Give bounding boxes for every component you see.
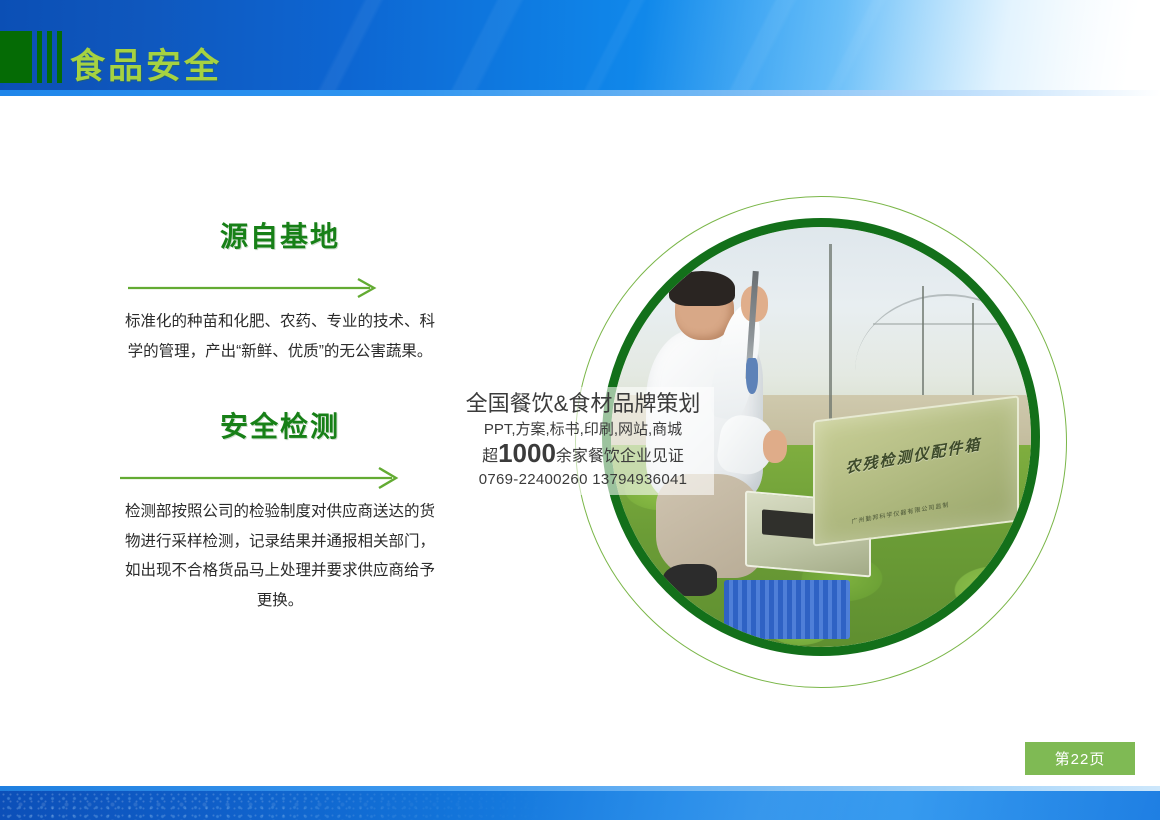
photo-blue-crate (724, 580, 850, 639)
watermark-line-3: 超1000余家餐饮企业见证 (452, 440, 714, 470)
section-title-inspection: 安全检测 (120, 405, 440, 445)
header-underline (0, 90, 1160, 96)
watermark-line-1: 全国餐饮&食材品牌策划 (452, 389, 714, 419)
slide-footer (0, 786, 1160, 820)
logo-block (0, 31, 32, 83)
section-body-source: 标准化的种苗和化肥、农药、专业的技术、科学的管理，产出“新鲜、优质”的无公害蔬果… (120, 307, 440, 367)
watermark-overlay: 全国餐饮&食材品牌策划 PPT,方案,标书,印刷,网站,商城 超1000余家餐饮… (452, 387, 714, 495)
watermark-line-3-suffix: 余家餐饮企业见证 (556, 448, 684, 465)
section-block-inspection: 安全检测 检测部按照公司的检验制度对供应商送达的货物进行采样检测，记录结果并通报… (120, 405, 440, 615)
logo-stripe-2 (47, 31, 52, 83)
logo-stripe-1 (37, 31, 42, 83)
photo-person-shoe (663, 564, 717, 597)
photo-pole-2 (972, 303, 974, 395)
photo-pole-1 (922, 286, 924, 395)
logo-stripe-3 (57, 31, 62, 83)
footer-sheen (500, 791, 1160, 820)
section-title-source: 源自基地 (120, 215, 440, 255)
arrow-right-icon (120, 275, 390, 301)
watermark-line-2: PPT,方案,标书,印刷,网站,商城 (452, 419, 714, 440)
content-left-column: 源自基地 标准化的种苗和化肥、农药、专业的技术、科学的管理，产出“新鲜、优质”的… (120, 215, 440, 615)
three-stripes-logo-icon (0, 31, 62, 83)
slide-root: 食品安全 源自基地 标准化的种苗和化肥、农药、专业的技术、科学的管理，产出“新鲜… (0, 0, 1160, 820)
arrow-right-icon (120, 465, 410, 491)
footer-dot-texture (0, 791, 560, 820)
photo-person-hair (669, 271, 735, 305)
slide-header: 食品安全 (0, 0, 1160, 96)
green-arrow-divider-1 (120, 275, 440, 301)
photo-pipette-bulb (746, 358, 758, 394)
watermark-line-3-number: 1000 (498, 438, 556, 468)
watermark-line-3-prefix: 超 (482, 448, 498, 465)
section-block-source: 源自基地 标准化的种苗和化肥、农药、专业的技术、科学的管理，产出“新鲜、优质”的… (120, 215, 440, 367)
page-number-badge: 第22页 (1025, 742, 1135, 775)
photo-person-hand-lower (763, 430, 787, 463)
green-arrow-divider-2 (120, 465, 440, 491)
watermark-line-4: 0769-22400260 13794936041 (452, 470, 714, 490)
page-title: 食品安全 (70, 38, 222, 89)
section-body-inspection: 检测部按照公司的检验制度对供应商送达的货物进行采样检测，记录结果并通报相关部门，… (120, 497, 440, 615)
